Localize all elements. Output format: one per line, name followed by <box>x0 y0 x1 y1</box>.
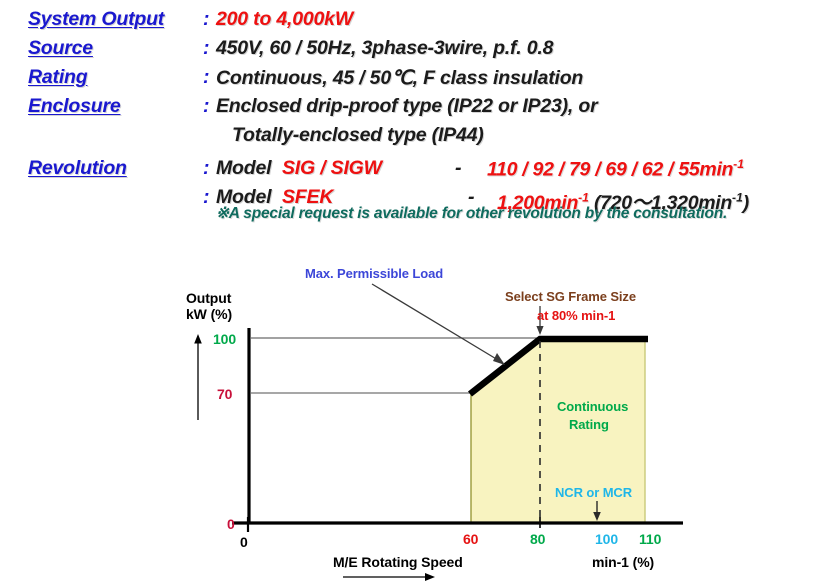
spec-label-source: Source <box>28 37 93 60</box>
max-permissible-load-arrowhead <box>493 353 505 365</box>
annotation-continuous-rating-line2: Rating <box>569 417 609 432</box>
chart-svg <box>0 240 830 583</box>
annotation-ncr-or-mcr: NCR or MCR <box>555 485 632 500</box>
annotation-continuous-rating-line1: Continuous <box>557 399 628 414</box>
rev-spec-sig: 110 / 92 / 79 / 69 / 62 / 55min-1 <box>487 157 744 182</box>
y-axis-label-line1: Output <box>186 290 231 306</box>
spec-label-rating: Rating <box>28 66 87 89</box>
spec-row-system-output: System Output : 200 to 4,000kW <box>0 8 830 37</box>
load-diagram-chart: Max. Permissible Load Select SG Frame Si… <box>0 240 830 583</box>
spec-row-source: Source : 450V, 60 / 50Hz, 3phase-3wire, … <box>0 37 830 66</box>
spec-colon: : <box>203 157 210 180</box>
rev-dash-1: - <box>455 157 462 180</box>
y-tick-label-100: 100 <box>213 331 236 347</box>
y-tick-label-70: 70 <box>217 386 232 402</box>
spec-colon: : <box>203 37 210 60</box>
spec-value-source: 450V, 60 / 50Hz, 3phase-3wire, p.f. 0.8 <box>216 37 553 60</box>
spec-value-model-name-sig: SIG / SIGW <box>282 157 382 180</box>
spec-row-enclosure: Enclosure : Enclosed drip-proof type (IP… <box>0 95 830 124</box>
spec-value-enclosure-line1: Enclosed drip-proof type (IP22 or IP23),… <box>216 95 597 118</box>
x-axis-direction-arrowhead <box>425 573 435 581</box>
spec-colon: : <box>203 95 210 118</box>
revolution-note: ※A special request is available for othe… <box>216 204 727 223</box>
annotation-select-sg-frame-size: Select SG Frame Size <box>505 289 636 304</box>
spec-value-system-output: 200 to 4,000kW <box>216 8 353 31</box>
max-permissible-load-leader <box>372 284 498 360</box>
spec-value-enclosure-line2: Totally-enclosed type (IP44) <box>232 124 484 147</box>
spec-label-system-output: System Output <box>28 8 164 31</box>
spec-value-rating: Continuous, 45 / 50℃, F class insulation <box>216 66 583 90</box>
spec-colon: : <box>203 8 210 31</box>
x-tick-label-80: 80 <box>530 531 545 547</box>
spec-value-model-word-1: Model <box>216 157 271 180</box>
x-tick-label-100: 100 <box>595 531 618 547</box>
x-axis-unit-label: min-1 (%) <box>592 554 654 570</box>
x-axis-label: M/E Rotating Speed <box>333 554 463 570</box>
spec-row-revolution-note: ※A special request is available for othe… <box>0 204 830 233</box>
spec-label-revolution: Revolution <box>28 157 127 180</box>
y-tick-label-0: 0 <box>227 516 235 532</box>
spec-colon: : <box>203 66 210 89</box>
annotation-at-80-percent: at 80% min-1 <box>537 308 615 323</box>
spec-label-enclosure: Enclosure <box>28 95 120 118</box>
x-tick-label-60: 60 <box>463 531 478 547</box>
select-sg-frame-arrowhead <box>536 326 543 335</box>
y-axis-label-line2: kW (%) <box>186 306 232 322</box>
annotation-max-permissible-load: Max. Permissible Load <box>305 266 443 281</box>
x-tick-label-0: 0 <box>240 534 248 550</box>
x-tick-label-110: 110 <box>639 531 661 547</box>
spec-row-rating: Rating : Continuous, 45 / 50℃, F class i… <box>0 66 830 95</box>
spec-row-revolution-1: Revolution : Model SIG / SIGW - 110 / 92… <box>0 157 830 186</box>
spec-row-enclosure-cont: Totally-enclosed type (IP44) <box>0 124 830 153</box>
y-axis-direction-arrowhead <box>194 334 202 344</box>
specification-list: System Output : 200 to 4,000kW Source : … <box>0 0 830 232</box>
